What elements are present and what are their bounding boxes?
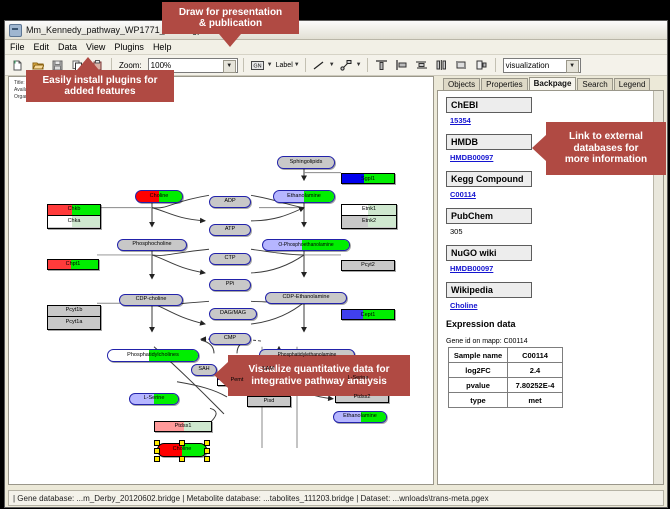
node-label: L-Serine — [348, 376, 369, 382]
node-label: Phosphocholine — [132, 242, 171, 248]
node-sphingolipids[interactable]: Sphingolipids — [277, 156, 335, 169]
node-label: Etnk2 — [362, 219, 376, 225]
cell-value: 7.80252E-4 — [508, 378, 563, 393]
node-label: SAM — [262, 367, 274, 373]
section-header-nugo: NuGO wiki — [446, 245, 532, 261]
table-row: Sample name C00114 — [449, 348, 563, 363]
toolbar-separator — [495, 58, 496, 72]
node-ppi[interactable]: PPi — [209, 279, 251, 291]
callout-draw-arrow-icon — [219, 34, 241, 47]
cell-key: pvalue — [449, 378, 508, 393]
node-label: SAH — [198, 367, 209, 373]
menu-plugins[interactable]: Plugins — [114, 42, 144, 52]
node-label: Ptdss1 — [175, 424, 192, 430]
menu-help[interactable]: Help — [153, 42, 172, 52]
node-label: Phosphatidylethanolamine — [278, 353, 337, 358]
gene-pcyt2[interactable]: Pcyt2 — [341, 260, 395, 271]
node-phosphocholine[interactable]: Phosphocholine — [117, 239, 187, 251]
node-label: Chka — [68, 219, 81, 225]
node-choline[interactable]: Choline — [135, 190, 183, 203]
node-o-phosphoethanolamine[interactable]: O-Phosphoethanolamine — [262, 239, 350, 251]
node-label: Ethanolamine — [343, 414, 377, 420]
callout-links-text: Link to external databases for more info… — [565, 131, 647, 166]
node-atp[interactable]: ATP — [209, 224, 251, 236]
chevron-down-icon[interactable]: ▼ — [356, 62, 362, 68]
node-label: PPi — [226, 282, 235, 288]
link-wikipedia[interactable]: Choline — [450, 301, 663, 310]
node-label: ADP — [224, 199, 235, 205]
gene-sgpl1[interactable]: Sgpl1 — [341, 173, 395, 184]
node-phosphatidylcholines[interactable]: Phosphatidylcholines — [107, 349, 199, 362]
node-label: Phosphatidylcholines — [127, 353, 179, 359]
node-cdp-choline[interactable]: CDP-choline — [119, 294, 183, 306]
node-label: Pemt — [218, 378, 256, 384]
expression-table: Sample name C00114 log2FC 2.4 pvalue 7.8… — [448, 347, 563, 408]
cell-value: C00114 — [508, 348, 563, 363]
node-label: CTP — [225, 256, 236, 262]
section-header-kegg: Kegg Compound — [446, 171, 532, 187]
side-panel-tabs[interactable]: Objects Properties Backpage Search Legen… — [437, 76, 664, 90]
screenshot-root: Mm_Kennedy_pathway_WP1771_45176.gp File … — [0, 0, 670, 509]
node-label: CMP — [224, 336, 236, 342]
node-label: Chkb — [68, 207, 81, 213]
callout-links: Link to external databases for more info… — [546, 122, 666, 175]
node-label: Choline — [150, 194, 169, 200]
node-label: Ptdss2 — [354, 395, 371, 401]
menu-view[interactable]: View — [86, 42, 105, 52]
distribute-v-icon[interactable] — [433, 57, 450, 74]
node-label: Pcyt1a — [66, 320, 83, 326]
cell-key: type — [449, 393, 508, 408]
menu-file[interactable]: File — [10, 42, 25, 52]
label-tool-label: Label — [276, 62, 293, 69]
gene-cept1[interactable]: Cept1 — [341, 309, 395, 320]
gene-etnk2[interactable]: Etnk2 — [342, 216, 396, 227]
callout-links-arrow-icon — [532, 135, 546, 161]
node-ctp[interactable]: CTP — [209, 253, 251, 265]
section-header-hmdb: HMDB — [446, 134, 532, 150]
cell-value: 2.4 — [508, 363, 563, 378]
tab-legend[interactable]: Legend — [614, 78, 651, 90]
gene-pcyt1b[interactable]: Pcyt1b — [48, 306, 100, 317]
callout-plugins-arrow-icon — [77, 57, 99, 70]
value-pubchem: 305 — [450, 227, 663, 236]
node-l-serine-left[interactable]: L-Serine — [129, 393, 179, 405]
link-nugo-wiki[interactable]: HMDB00097 — [450, 264, 663, 273]
chevron-down-icon[interactable]: ▼ — [566, 60, 579, 73]
expression-data-heading: Expression data — [446, 319, 663, 329]
gene-id-on-mapp: Gene id on mapp: C00114 — [446, 338, 663, 345]
section-header-chebi: ChEBI — [446, 97, 532, 113]
node-label: Pcyt1b — [66, 308, 83, 314]
menu-edit[interactable]: Edit — [34, 42, 50, 52]
cell-key: Sample name — [449, 348, 508, 363]
gene-group-chk[interactable]: Chkb Chka — [47, 204, 101, 229]
chevron-down-icon[interactable]: ▼ — [267, 62, 273, 68]
shape-dropdown[interactable]: ▼ — [338, 57, 362, 74]
label-dropdown[interactable]: Label ▼ — [276, 62, 300, 69]
node-label: Pisd — [264, 399, 275, 405]
node-label: CDP-Ethanolamine — [282, 295, 329, 301]
node-label: Etnk1 — [362, 207, 376, 213]
pathway-canvas[interactable]: Title: Availa Organi — [8, 76, 434, 485]
node-label: O-Phosphoethanolamine — [278, 243, 333, 248]
tab-objects[interactable]: Objects — [443, 78, 480, 90]
node-label: Pcyt2 — [361, 263, 375, 269]
visualization-combobox[interactable]: visualization ▼ — [503, 58, 581, 73]
gene-pcyt1a[interactable]: Pcyt1a — [48, 317, 100, 328]
align-top-icon[interactable] — [373, 57, 390, 74]
menu-data[interactable]: Data — [58, 42, 77, 52]
tab-backpage[interactable]: Backpage — [529, 77, 577, 90]
node-label: Ethanolamine — [287, 194, 321, 200]
gene-chkb[interactable]: Chkb — [48, 205, 100, 216]
callout-draw: Draw for presentation & publication — [162, 2, 299, 34]
menubar[interactable]: File Edit Data View Plugins Help — [5, 40, 667, 55]
gene-chka[interactable]: Chka — [48, 216, 100, 227]
node-adp[interactable]: ADP — [209, 196, 251, 208]
cell-value: met — [508, 393, 563, 408]
gene-group-pcyt1[interactable]: Pcyt1b Pcyt1a — [47, 305, 101, 330]
gene-ptdss1[interactable]: Ptdss1 — [154, 421, 212, 432]
window-titlebar: Mm_Kennedy_pathway_WP1771_45176.gp — [5, 21, 667, 40]
node-label: Sgpl1 — [342, 177, 394, 183]
callout-draw-text: Draw for presentation & publication — [179, 7, 282, 30]
table-row: pvalue 7.80252E-4 — [449, 378, 563, 393]
node-label: DAG/MAG — [220, 311, 246, 317]
toolbar-separator — [243, 58, 244, 72]
table-row: type met — [449, 393, 563, 408]
node-cmp[interactable]: CMP — [209, 333, 251, 345]
node-label: Cept1 — [342, 313, 394, 319]
tab-properties[interactable]: Properties — [481, 78, 527, 90]
line-dropdown[interactable]: ▼ — [311, 57, 335, 74]
gene-group-etnk[interactable]: Etnk1 Etnk2 — [341, 204, 397, 229]
visualization-value: visualization — [506, 61, 550, 70]
ungroup-icon[interactable] — [473, 57, 490, 74]
section-header-pubchem: PubChem — [446, 208, 532, 224]
statusbar: | Gene database: ...m_Derby_20120602.bri… — [5, 489, 667, 507]
toolbar-separator — [367, 58, 368, 72]
node-cdp-ethanolamine[interactable]: CDP-Ethanolamine — [265, 292, 347, 304]
callout-visualize: Visualize quantitative data for integrat… — [228, 355, 410, 396]
chevron-down-icon[interactable]: ▼ — [223, 60, 236, 73]
node-label: Chpt1 — [66, 262, 81, 268]
gene-etnk1[interactable]: Etnk1 — [342, 205, 396, 216]
svg-text:GN: GN — [253, 63, 261, 69]
section-header-wikipedia: Wikipedia — [446, 282, 532, 298]
link-kegg-compound[interactable]: C00114 — [450, 190, 663, 199]
node-dag-mag[interactable]: DAG/MAG — [209, 308, 257, 320]
zoom-value: 100% — [151, 61, 171, 70]
gene-pisd[interactable]: Pisd — [247, 396, 291, 407]
shape-icon[interactable] — [338, 57, 355, 74]
node-label: CDP-choline — [136, 297, 167, 303]
tab-search[interactable]: Search — [577, 78, 612, 90]
zoom-label: Zoom: — [119, 61, 142, 70]
distribute-h-icon[interactable] — [413, 57, 430, 74]
group-icon[interactable] — [453, 57, 470, 74]
app-icon — [9, 24, 22, 37]
callout-plugins-text: Easily install plugins for added feature… — [42, 75, 157, 98]
datanode-icon[interactable]: GN — [249, 57, 266, 74]
toolbar-separator — [305, 58, 306, 72]
chevron-down-icon[interactable]: ▼ — [294, 62, 300, 68]
node-ethanolamine[interactable]: Ethanolamine — [273, 190, 335, 203]
chevron-down-icon[interactable]: ▼ — [329, 62, 335, 68]
node-label: ATP — [225, 227, 235, 233]
datanode-dropdown[interactable]: GN ▼ — [249, 57, 273, 74]
node-label: Choline — [173, 447, 192, 453]
node-label: L-Serine — [144, 396, 165, 402]
pathway-diagram[interactable]: Title: Availa Organi — [9, 77, 433, 484]
callout-plugins: Easily install plugins for added feature… — [26, 70, 174, 102]
gene-chpt1[interactable]: Chpt1 — [47, 259, 99, 270]
table-row: log2FC 2.4 — [449, 363, 563, 378]
new-file-icon[interactable] — [9, 57, 26, 74]
line-icon[interactable] — [311, 57, 328, 74]
status-text: | Gene database: ...m_Derby_20120602.bri… — [8, 490, 664, 506]
callout-visualize-arrow-icon — [214, 362, 228, 388]
cell-key: log2FC — [449, 363, 508, 378]
node-ethanolamine-bottom[interactable]: Ethanolamine — [333, 411, 387, 423]
node-label: Sphingolipids — [290, 160, 323, 166]
align-left-icon[interactable] — [393, 57, 410, 74]
